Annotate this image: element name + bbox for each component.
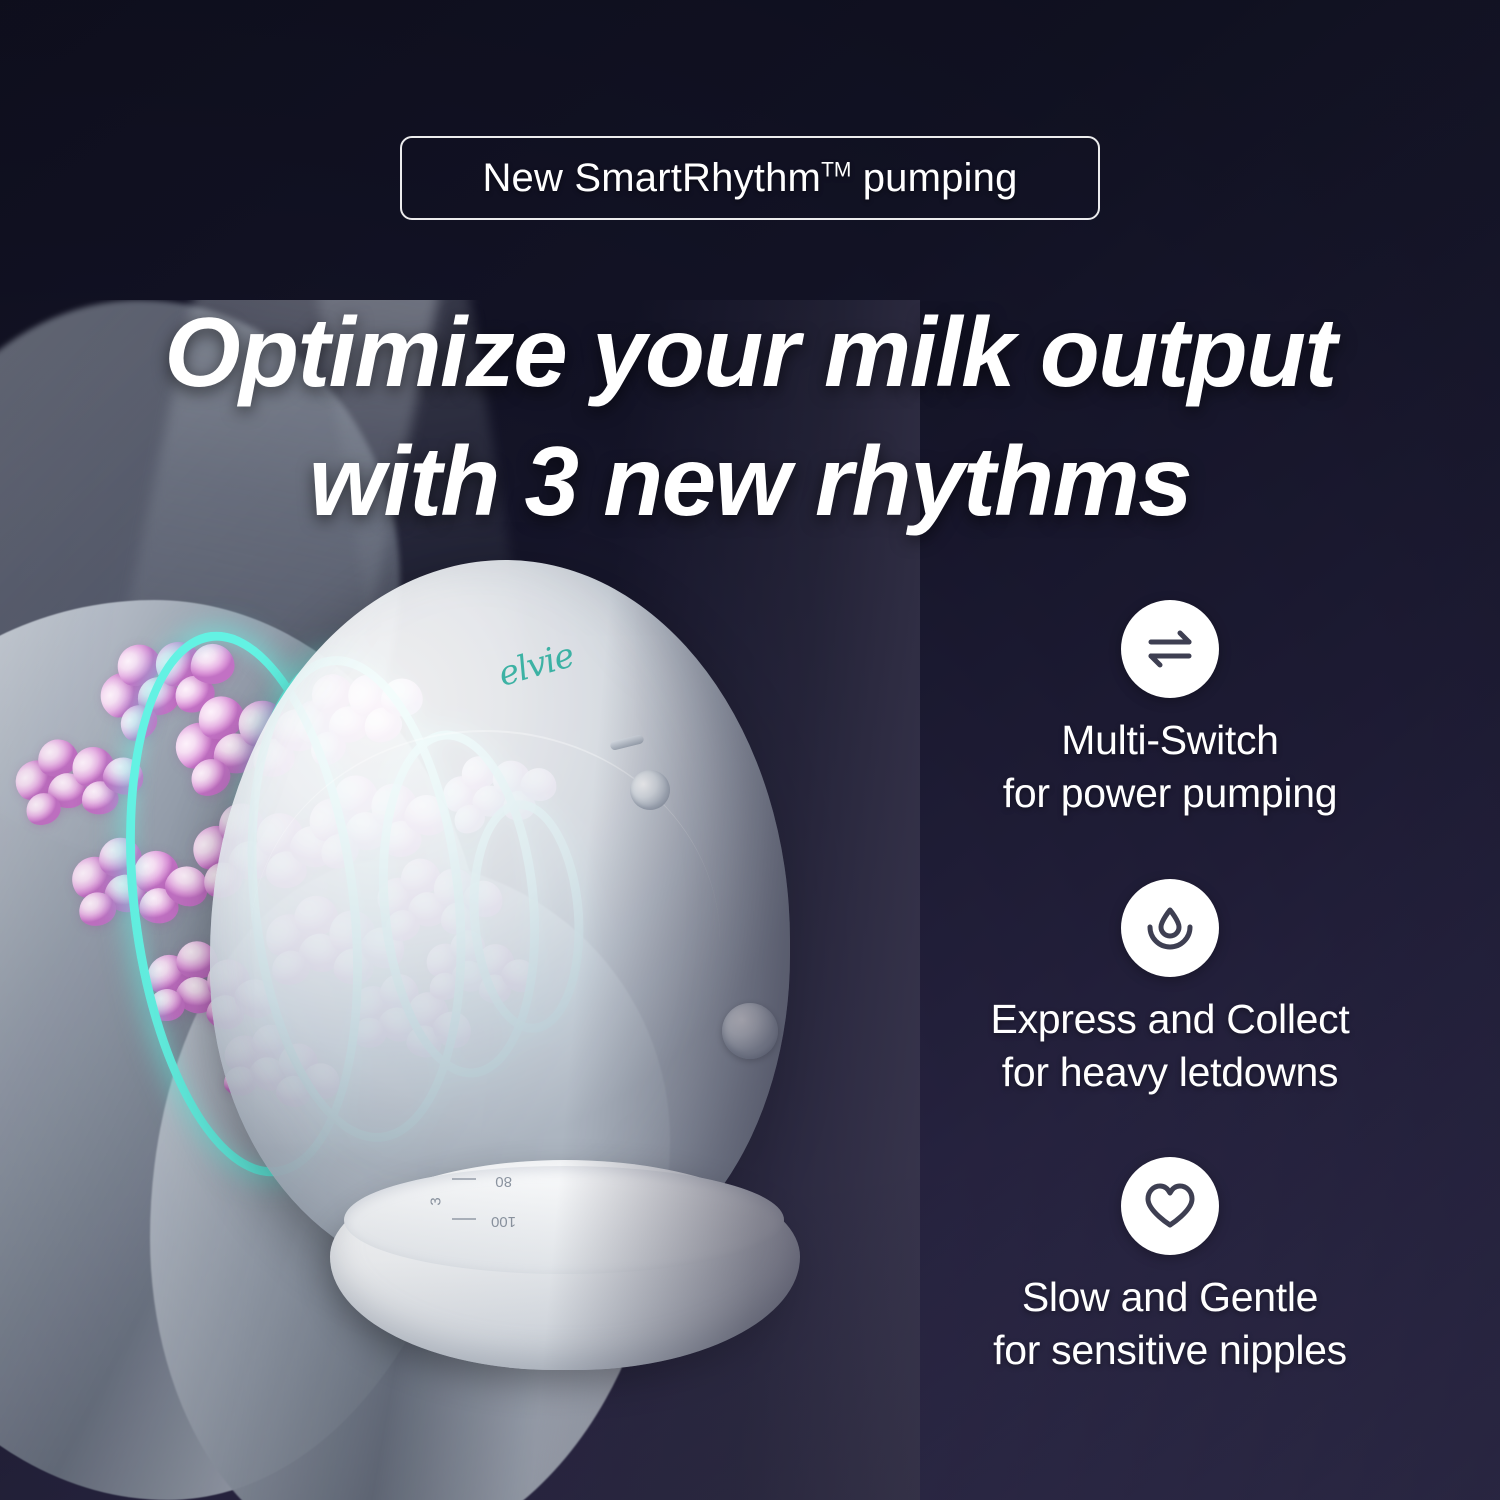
badge-label-tail: pumping	[851, 156, 1017, 200]
feature-label: Slow and Gentle for sensitive nipples	[890, 1271, 1450, 1378]
badge-label-main: New SmartRhythm	[482, 156, 821, 200]
page-headline: Optimize your milk output with 3 new rhy…	[0, 288, 1500, 547]
badge-label: New SmartRhythmTM pumping	[482, 156, 1017, 201]
feature-label: Multi-Switch for power pumping	[890, 714, 1450, 821]
droplet-in-bowl-icon	[1121, 879, 1219, 977]
feature-subtitle: for power pumping	[890, 767, 1450, 820]
headline-line-2: with 3 new rhythms	[0, 417, 1500, 546]
feature-item: Express and Collect for heavy letdowns	[890, 879, 1450, 1100]
feature-title: Slow and Gentle	[1022, 1274, 1318, 1320]
feature-label: Express and Collect for heavy letdowns	[890, 993, 1450, 1100]
feature-list: Multi-Switch for power pumping Express a…	[890, 600, 1450, 1378]
feature-title: Multi-Switch	[1061, 717, 1278, 763]
headline-line-1: Optimize your milk output	[164, 297, 1335, 407]
feature-item: Slow and Gentle for sensitive nipples	[890, 1157, 1450, 1378]
promo-image-canvas: elvie 100 80 3 New SmartRhythmTM pumping…	[0, 0, 1500, 1500]
feature-title: Express and Collect	[991, 996, 1350, 1042]
feature-item: Multi-Switch for power pumping	[890, 600, 1450, 821]
feature-subtitle: for sensitive nipples	[890, 1324, 1450, 1377]
trademark-mark: TM	[821, 158, 851, 181]
feature-subtitle: for heavy letdowns	[890, 1046, 1450, 1099]
smartrhythm-badge: New SmartRhythmTM pumping	[400, 136, 1100, 220]
heart-outline-icon	[1121, 1157, 1219, 1255]
two-way-arrow-icon	[1121, 600, 1219, 698]
